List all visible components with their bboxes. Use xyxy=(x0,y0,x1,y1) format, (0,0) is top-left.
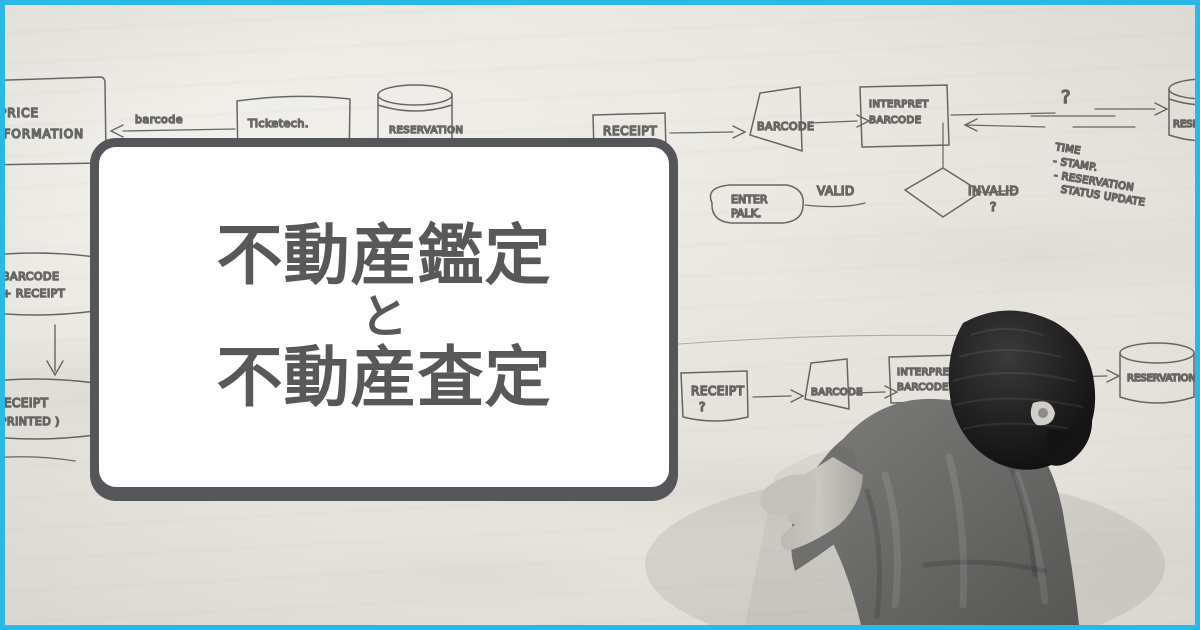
og-image-card: PRICE INFORMATION barcode Ticketech. RES… xyxy=(0,0,1200,630)
title-line-1: 不動産鑑定 xyxy=(217,222,552,290)
title-line-2: 不動産査定 xyxy=(217,344,552,412)
title-card: 不動産鑑定 と 不動産査定 xyxy=(90,138,678,496)
title-conjunction: と xyxy=(361,290,408,344)
